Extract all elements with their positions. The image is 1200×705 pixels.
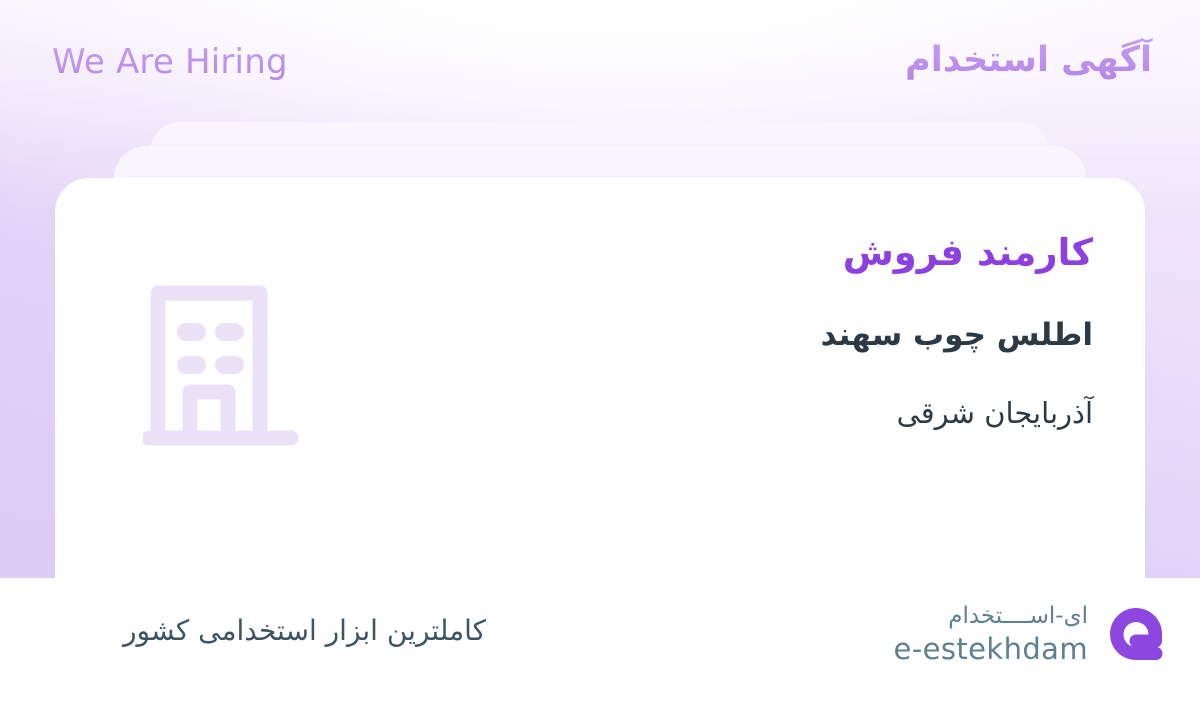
e-logo-icon [1102,600,1170,668]
footer: کاملترین ابزار استخدامی کشور ای-اســــتخ… [0,578,1200,705]
hero-background: We Are Hiring آگهی استخدام [0,0,1200,578]
job-title: کارمند فروش [453,228,1093,278]
building-icon [143,280,301,446]
hero-title-persian: آگهی استخدام [905,38,1152,84]
brand-name-persian: ای-اســــتخدام [948,605,1088,628]
job-details: کارمند فروش اطلس چوب سهند آذربایجان شرقی [453,228,1093,433]
job-location: آذربایجان شرقی [453,394,1093,433]
brand-logo[interactable]: ای-اســــتخدام e-estekhdam [894,600,1170,668]
brand-name-english: e-estekhdam [894,635,1088,664]
company-name: اطلس چوب سهند [453,315,1093,357]
footer-slogan: کاملترین ابزار استخدامی کشور [123,611,486,650]
hero-title-english: We Are Hiring [52,41,288,84]
job-advertisement-card: We Are Hiring آگهی استخدام [0,0,1200,705]
brand-wordmark: ای-اســــتخدام e-estekhdam [894,605,1088,664]
job-card[interactable]: کارمند فروش اطلس چوب سهند آذربایجان شرقی [55,178,1145,578]
